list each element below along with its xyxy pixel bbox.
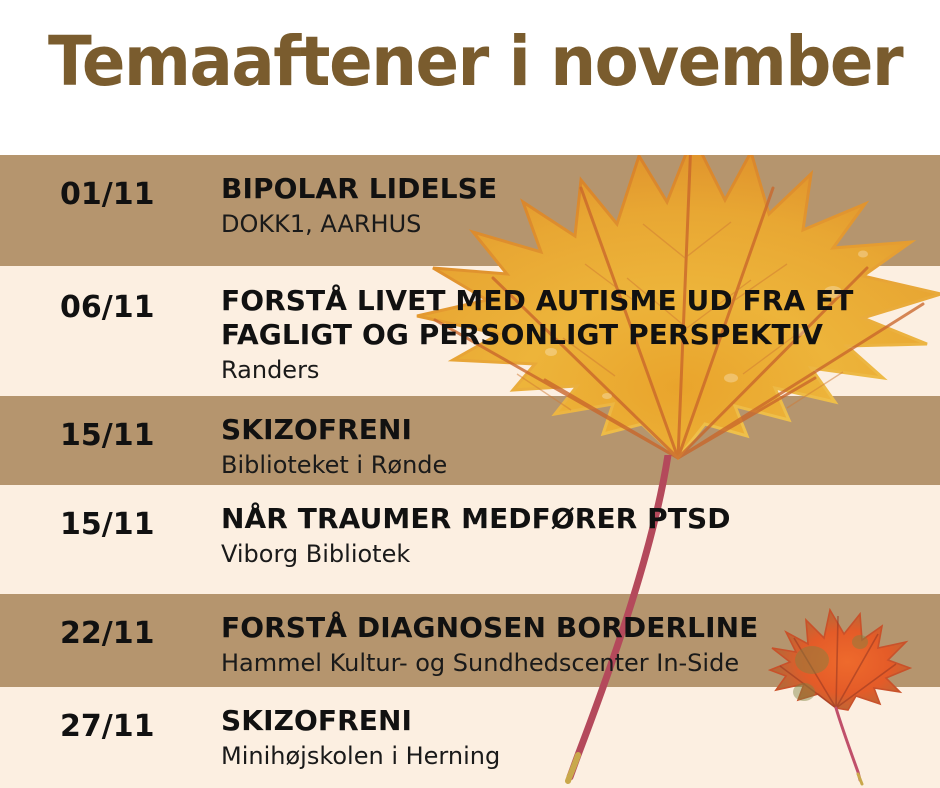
schedule-row[interactable]: 15/11NÅR TRAUMER MEDFØRER PTSDViborg Bib… bbox=[0, 485, 940, 594]
schedule-row-date: 27/11 bbox=[60, 709, 154, 744]
schedule-row[interactable]: 01/11BIPOLAR LIDELSEDOKK1, AARHUS bbox=[0, 155, 940, 266]
schedule-row-venue: Hammel Kultur- og Sundhedscenter In-Side bbox=[221, 649, 932, 678]
poster-header: Temaaftener i november bbox=[0, 0, 940, 155]
schedule-row-venue: Minihøjskolen i Herning bbox=[221, 742, 932, 771]
schedule-row-date: 06/11 bbox=[60, 290, 154, 325]
schedule-row-title: SKIZOFRENI bbox=[221, 704, 932, 738]
schedule-row-date: 15/11 bbox=[60, 507, 154, 542]
schedule-row-date: 22/11 bbox=[60, 616, 154, 651]
schedule-row-venue: Randers bbox=[221, 356, 932, 385]
schedule-row-date: 01/11 bbox=[60, 177, 154, 212]
schedule-row-body: FORSTÅ LIVET MED AUTISME UD FRA ET FAGLI… bbox=[221, 284, 932, 385]
schedule-row[interactable]: 27/11SKIZOFRENIMinihøjskolen i Herning bbox=[0, 687, 940, 788]
schedule-row-title: FORSTÅ LIVET MED AUTISME UD FRA ET FAGLI… bbox=[221, 284, 932, 352]
schedule-row-title: FORSTÅ DIAGNOSEN BORDERLINE bbox=[221, 611, 932, 645]
schedule-row-body: SKIZOFRENIBiblioteket i Rønde bbox=[221, 413, 932, 480]
schedule-row-body: FORSTÅ DIAGNOSEN BORDERLINEHammel Kultur… bbox=[221, 611, 932, 678]
schedule-row-date: 15/11 bbox=[60, 418, 154, 453]
poster-canvas: 01/11BIPOLAR LIDELSEDOKK1, AARHUS06/11FO… bbox=[0, 0, 940, 788]
schedule-row-venue: Biblioteket i Rønde bbox=[221, 451, 932, 480]
schedule-row[interactable]: 06/11FORSTÅ LIVET MED AUTISME UD FRA ET … bbox=[0, 266, 940, 396]
schedule-row[interactable]: 15/11SKIZOFRENIBiblioteket i Rønde bbox=[0, 396, 940, 485]
schedule-row-title: SKIZOFRENI bbox=[221, 413, 932, 447]
schedule-row-venue: DOKK1, AARHUS bbox=[221, 210, 932, 239]
schedule-row-title: NÅR TRAUMER MEDFØRER PTSD bbox=[221, 502, 932, 536]
page-title: Temaaftener i november bbox=[48, 28, 902, 97]
schedule-row[interactable]: 22/11FORSTÅ DIAGNOSEN BORDERLINEHammel K… bbox=[0, 594, 940, 687]
schedule-row-body: NÅR TRAUMER MEDFØRER PTSDViborg Bibliote… bbox=[221, 502, 932, 569]
schedule-row-body: BIPOLAR LIDELSEDOKK1, AARHUS bbox=[221, 172, 932, 239]
schedule-row-title: BIPOLAR LIDELSE bbox=[221, 172, 932, 206]
schedule-row-body: SKIZOFRENIMinihøjskolen i Herning bbox=[221, 704, 932, 771]
schedule-row-venue: Viborg Bibliotek bbox=[221, 540, 932, 569]
